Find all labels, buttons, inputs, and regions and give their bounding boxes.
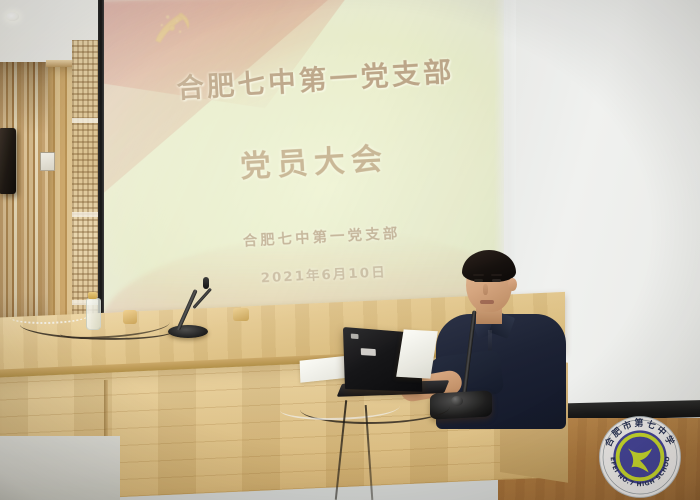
slide-subtitle-org: 合肥七中第一党支部 <box>198 220 446 253</box>
person-mouth <box>480 300 494 304</box>
photo-scene: 合肥七中第一党支部 党员大会 合肥七中第一党支部 2021年6月10日 <box>0 0 700 500</box>
water-bottle[interactable] <box>86 298 101 330</box>
slide-subtitle-date: 2021年6月10日 <box>205 258 443 289</box>
laptop-sticker <box>351 334 359 340</box>
person-eyebrow <box>473 274 484 276</box>
laptop-sticker <box>361 348 376 356</box>
light-switch[interactable] <box>40 152 55 171</box>
wood-block <box>233 308 249 321</box>
slide-title-line-2: 党员大会 <box>160 128 471 190</box>
wall-speaker-icon <box>0 128 16 194</box>
ceiling-downlight-icon <box>6 12 19 21</box>
school-emblem-watermark: 合肥市第七中学 HEFEI NO.7 HIGH SCHOOL <box>597 414 683 500</box>
gooseneck-microphone-base[interactable] <box>168 325 208 338</box>
floor-left <box>0 436 120 500</box>
wood-block <box>123 310 137 324</box>
person-hair <box>462 250 516 282</box>
gooseneck-microphone-head <box>203 277 209 289</box>
slide-title-line-1: 合肥七中第一党支部 <box>145 47 487 108</box>
person-eye <box>474 279 483 282</box>
person-nose <box>483 284 488 295</box>
desk-microphone-knob[interactable] <box>451 396 463 406</box>
person-eye <box>492 279 501 282</box>
person-eyebrow <box>491 274 502 276</box>
person-ear <box>508 278 517 291</box>
water-bottle-cap <box>88 292 97 299</box>
